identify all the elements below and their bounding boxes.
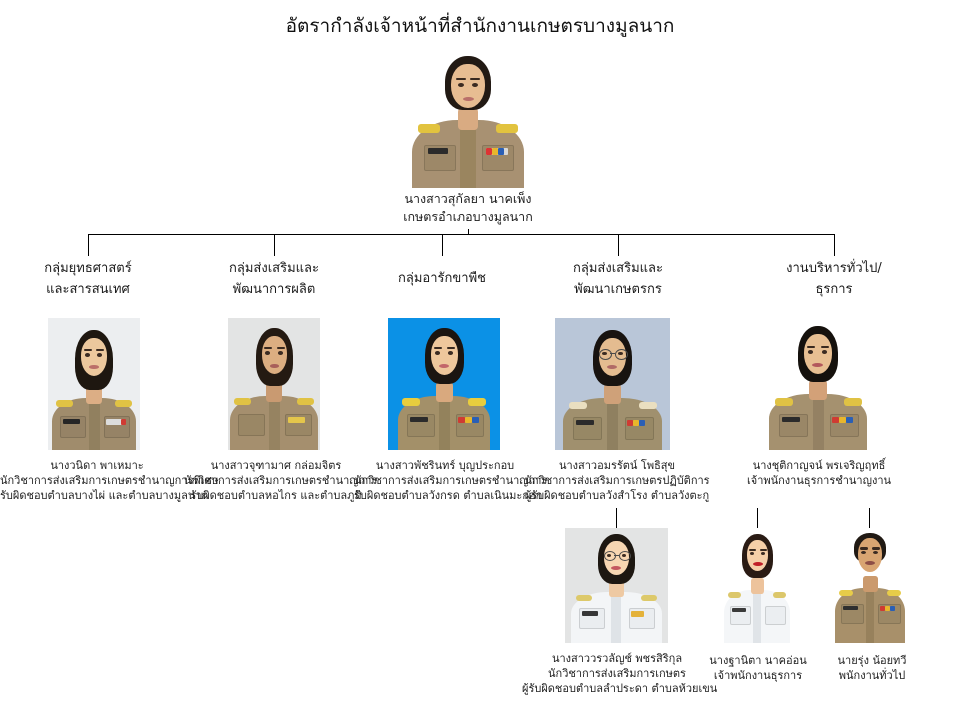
staff-7-position: เจ้าพนักงานธุรการ bbox=[692, 668, 824, 683]
staff-4-name: นางสาวอมรรัตน์ โพธิสุข bbox=[524, 458, 710, 473]
caption-staff-4: นางสาวอมรรัตน์ โพธิสุข นักวิชาการส่งเสริ… bbox=[524, 458, 710, 503]
staff-2-position: นักวิชาการส่งเสริมการเกษตรชำนาญการ bbox=[184, 473, 368, 488]
photo-staff-4 bbox=[555, 318, 670, 450]
photo-staff-5 bbox=[763, 318, 873, 450]
unit-label-5: งานบริหารทั่วไป/ ธุรการ bbox=[759, 258, 909, 300]
connector-row2-admin2 bbox=[869, 508, 870, 528]
unit-4-line1: กลุ่มส่งเสริมและ bbox=[543, 258, 693, 279]
staff-5-position: เจ้าพนักงานธุรการชำนาญงาน bbox=[726, 473, 912, 488]
caption-staff-6: นางสาววรวลัญช์ พชรสิริกุล นักวิชาการส่งเ… bbox=[522, 651, 712, 696]
photo-staff-2 bbox=[228, 318, 320, 450]
photo-head bbox=[398, 48, 538, 188]
staff-4-area: ผู้รับผิดชอบตำบลวังสำโรง ตำบลวังตะกู bbox=[524, 488, 710, 503]
unit-label-3: กลุ่มอารักขาพืช bbox=[367, 268, 517, 289]
caption-staff-8: นายรุ่ง น้อยทวี พนักงานทั่วไป bbox=[812, 653, 932, 683]
unit-label-4: กลุ่มส่งเสริมและ พัฒนาเกษตรกร bbox=[543, 258, 693, 300]
head-position: เกษตรอำเภอบางมูลนาก bbox=[368, 208, 568, 226]
page-title: อัตรากำลังเจ้าหน้าที่สำนักงานเกษตรบางมูล… bbox=[0, 13, 960, 39]
caption-head: นางสาวสุกัลยา นาคเพ็ง เกษตรอำเภอบางมูลนา… bbox=[368, 190, 568, 226]
connector-drop-4 bbox=[618, 234, 619, 256]
unit-1-line1: กลุ่มยุทธศาสตร์ bbox=[13, 258, 163, 279]
staff-6-name: นางสาววรวลัญช์ พชรสิริกุล bbox=[522, 651, 712, 666]
connector-drop-2 bbox=[274, 234, 275, 256]
staff-8-name: นายรุ่ง น้อยทวี bbox=[812, 653, 932, 668]
staff-6-position: นักวิชาการส่งเสริมการเกษตร bbox=[522, 666, 712, 681]
unit-label-1: กลุ่มยุทธศาสตร์ และสารสนเทศ bbox=[13, 258, 163, 300]
unit-5-line1: งานบริหารทั่วไป/ bbox=[759, 258, 909, 279]
staff-1-area: รับผิดชอบตำบลบางไผ่ และตำบลบางมูลนาก bbox=[0, 488, 194, 503]
connector-drop-1 bbox=[88, 234, 89, 256]
staff-3-area: รับผิดชอบตำบลวังกรด ตำบลเนินมะกอก bbox=[354, 488, 536, 503]
connector-bus bbox=[88, 234, 834, 235]
connector-row2-admin1 bbox=[757, 508, 758, 528]
staff-1-position: นักวิชาการส่งเสริมการเกษตรชำนาญการพิเศษ bbox=[0, 473, 194, 488]
org-chart-canvas: อัตรากำลังเจ้าหน้าที่สำนักงานเกษตรบางมูล… bbox=[0, 0, 960, 720]
connector-drop-5 bbox=[834, 234, 835, 256]
unit-label-2: กลุ่มส่งเสริมและ พัฒนาการผลิต bbox=[199, 258, 349, 300]
staff-5-name: นางชุติกาญจน์ พรเจริญฤทธิ์ bbox=[726, 458, 912, 473]
caption-staff-2: นางสาวจุฑามาศ กล่อมจิตร นักวิชาการส่งเสร… bbox=[184, 458, 368, 503]
staff-8-position: พนักงานทั่วไป bbox=[812, 668, 932, 683]
connector-drop-3 bbox=[442, 234, 443, 256]
staff-2-area: รับผิดชอบตำบลหอไกร และตำบลภูมิ bbox=[184, 488, 368, 503]
caption-staff-7: นางฐานิตา นาคอ่อน เจ้าพนักงานธุรการ bbox=[692, 653, 824, 683]
staff-2-name: นางสาวจุฑามาศ กล่อมจิตร bbox=[184, 458, 368, 473]
photo-staff-7 bbox=[722, 528, 792, 643]
photo-staff-1 bbox=[48, 318, 140, 450]
staff-7-name: นางฐานิตา นาคอ่อน bbox=[692, 653, 824, 668]
head-name: นางสาวสุกัลยา นาคเพ็ง bbox=[368, 190, 568, 208]
caption-staff-3: นางสาวพัชรินทร์ บุญประกอบ นักวิชาการส่งเ… bbox=[354, 458, 536, 503]
photo-staff-8 bbox=[834, 528, 906, 643]
photo-staff-3 bbox=[388, 318, 500, 450]
caption-staff-1: นางวนิดา พาเหมาะ นักวิชาการส่งเสริมการเก… bbox=[0, 458, 194, 503]
staff-6-area: ผู้รับผิดชอบตำบลลำประดา ตำบลห้วยเขน bbox=[522, 681, 712, 696]
connector-row2-center bbox=[616, 508, 617, 528]
unit-1-line2: และสารสนเทศ bbox=[13, 279, 163, 300]
unit-2-line1: กลุ่มส่งเสริมและ bbox=[199, 258, 349, 279]
staff-3-name: นางสาวพัชรินทร์ บุญประกอบ bbox=[354, 458, 536, 473]
unit-4-line2: พัฒนาเกษตรกร bbox=[543, 279, 693, 300]
photo-staff-6 bbox=[565, 528, 668, 643]
unit-5-line2: ธุรการ bbox=[759, 279, 909, 300]
unit-2-line2: พัฒนาการผลิต bbox=[199, 279, 349, 300]
unit-3-line1: กลุ่มอารักขาพืช bbox=[367, 268, 517, 289]
staff-1-name: นางวนิดา พาเหมาะ bbox=[0, 458, 194, 473]
staff-3-position: นักวิชาการส่งเสริมการเกษตรชำนาญการ bbox=[354, 473, 536, 488]
caption-staff-5: นางชุติกาญจน์ พรเจริญฤทธิ์ เจ้าพนักงานธุ… bbox=[726, 458, 912, 488]
staff-4-position: นักวิชาการส่งเสริมการเกษตรปฏิบัติการ bbox=[524, 473, 710, 488]
